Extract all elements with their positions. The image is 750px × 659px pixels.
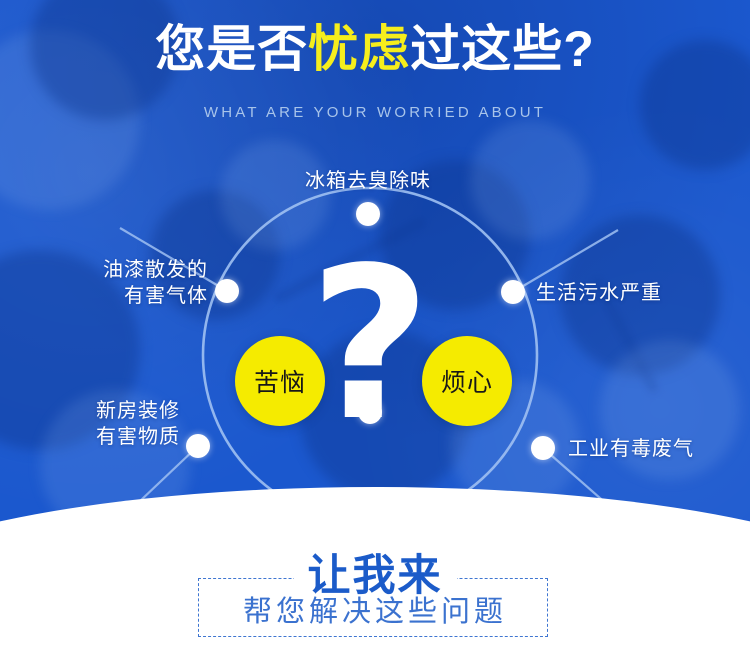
node-label-sewage: 生活污水严重: [536, 280, 750, 306]
node-label-text-line1: 油漆散发的: [0, 257, 208, 283]
node-label-paint-gas: 油漆散发的 有害气体: [0, 257, 208, 309]
node-label-text-line1: 新房装修: [0, 398, 180, 424]
node-label-text: 生活污水严重: [536, 280, 750, 306]
poster-canvas: 您是否忧虑过这些? WHAT ARE YOUR WORRIED ABOUT ? …: [0, 0, 750, 659]
node-label-text: 工业有毒废气: [568, 436, 750, 462]
bubble-kunao: 苦恼: [235, 336, 325, 426]
node-label-renovation: 新房装修 有害物质: [0, 398, 180, 450]
bubble-label: 烦心: [441, 363, 493, 399]
node-dot-center-bottom: [358, 400, 382, 424]
node-label-text: 冰箱去臭除味: [268, 168, 468, 194]
node-label-text-line2: 有害物质: [0, 424, 180, 450]
node-label-text-line2: 有害气体: [0, 283, 208, 309]
node-dot-paint-gas[interactable]: [215, 279, 239, 303]
bubble-label: 苦恼: [254, 363, 306, 399]
node-dot-industrial-gas[interactable]: [531, 436, 555, 460]
bubble-fanxin: 烦心: [422, 336, 512, 426]
cta-subtitle: 帮您解决这些问题: [0, 588, 750, 630]
node-label-fridge-odor: 冰箱去臭除味: [268, 168, 468, 194]
node-dot-fridge-odor[interactable]: [356, 202, 380, 226]
node-dot-renovation[interactable]: [186, 434, 210, 458]
node-label-industrial-gas: 工业有毒废气: [568, 436, 750, 462]
node-dot-sewage[interactable]: [501, 280, 525, 304]
